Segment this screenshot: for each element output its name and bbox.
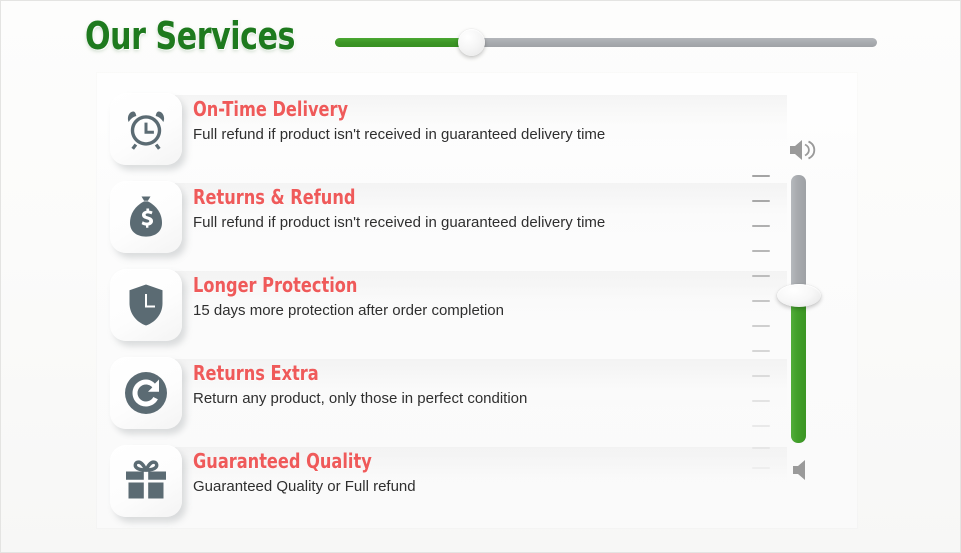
- list-item[interactable]: Returns & Refund Full refund if product …: [97, 175, 797, 263]
- shield-icon: [110, 269, 182, 341]
- service-title: Guaranteed Quality: [193, 449, 393, 473]
- service-title: Returns Extra: [193, 361, 494, 385]
- page-title: Our Services: [85, 14, 295, 58]
- list-item-text: Longer Protection 15 days more protectio…: [193, 273, 504, 322]
- volume-slider[interactable]: [746, 137, 856, 497]
- list-item[interactable]: Guaranteed Quality Guaranteed Quality or…: [97, 439, 797, 527]
- volume-slider-knob[interactable]: [777, 284, 821, 307]
- service-title: On-Time Delivery: [193, 97, 564, 121]
- service-description: Full refund if product isn't received in…: [193, 124, 605, 146]
- progress-slider-knob[interactable]: [458, 29, 485, 56]
- list-item-text: Guaranteed Quality Guaranteed Quality or…: [193, 449, 416, 498]
- services-page: Our Services: [0, 0, 961, 553]
- speaker-volume-high-icon[interactable]: [788, 137, 818, 168]
- service-description: Full refund if product isn't received in…: [193, 212, 605, 234]
- list-item[interactable]: Returns Extra Return any product, only t…: [97, 351, 797, 439]
- progress-slider-fill: [335, 38, 470, 47]
- alarm-clock-icon: [110, 93, 182, 165]
- list-item[interactable]: On-Time Delivery Full refund if product …: [97, 87, 797, 175]
- speaker-muted-icon[interactable]: [791, 457, 811, 488]
- service-title: Returns & Refund: [193, 185, 564, 209]
- service-list: On-Time Delivery Full refund if product …: [97, 87, 797, 527]
- volume-tick-marks: [746, 175, 778, 455]
- service-description: Guaranteed Quality or Full refund: [193, 476, 416, 498]
- list-item-text: On-Time Delivery Full refund if product …: [193, 97, 605, 146]
- service-description: Return any product, only those in perfec…: [193, 388, 527, 410]
- volume-slider-fill: [791, 291, 806, 443]
- page-header: Our Services: [1, 1, 961, 73]
- money-bag-icon: [110, 181, 182, 253]
- progress-slider[interactable]: [335, 34, 877, 52]
- gift-box-icon: [110, 445, 182, 517]
- service-description: 15 days more protection after order comp…: [193, 300, 504, 322]
- list-item[interactable]: Longer Protection 15 days more protectio…: [97, 263, 797, 351]
- service-title: Longer Protection: [193, 273, 473, 297]
- refresh-circle-icon: [110, 357, 182, 429]
- list-item-text: Returns & Refund Full refund if product …: [193, 185, 605, 234]
- volume-slider-track[interactable]: [791, 175, 806, 443]
- list-item-text: Returns Extra Return any product, only t…: [193, 361, 527, 410]
